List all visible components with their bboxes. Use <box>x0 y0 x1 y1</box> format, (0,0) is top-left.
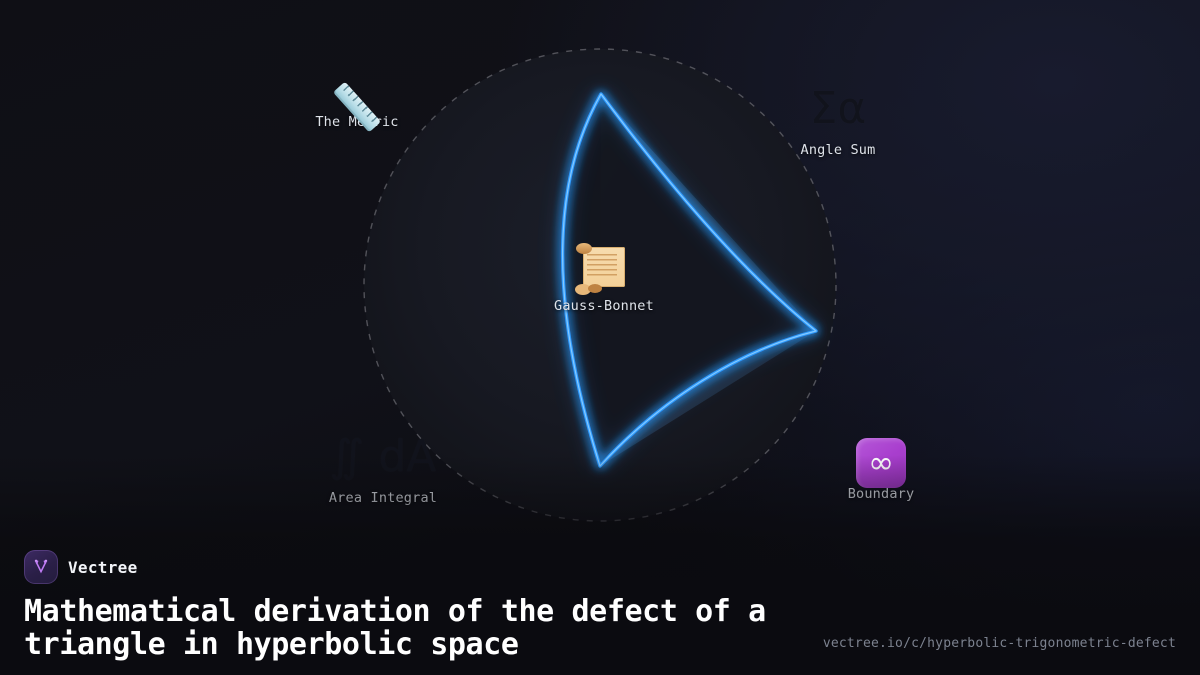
source-url: vectree.io/c/hyperbolic-trigonometric-de… <box>823 636 1176 651</box>
concept-label-boundary: Boundary <box>786 486 976 502</box>
double-integral-icon: ∬ dA <box>288 428 478 486</box>
scroll-icon <box>509 236 699 294</box>
concept-node-angle-sum[interactable]: Σα Angle Sum <box>743 80 933 158</box>
concept-label-area-integral: Area Integral <box>288 490 478 506</box>
footer: Vectree Mathematical derivation of the d… <box>0 550 1200 675</box>
slide-canvas: The Metric Σα Angle Sum Gauss-Bonnet ∬ d… <box>0 0 1200 675</box>
concept-node-the-metric[interactable]: The Metric <box>262 52 452 130</box>
infinity-icon: ∞ <box>786 424 976 482</box>
page-title: Mathematical derivation of the defect of… <box>24 596 794 661</box>
concept-node-gauss-bonnet[interactable]: Gauss-Bonnet <box>509 236 699 314</box>
ruler-icon <box>262 52 452 110</box>
concept-label-gauss-bonnet: Gauss-Bonnet <box>509 298 699 314</box>
concept-node-boundary[interactable]: ∞ Boundary <box>786 424 976 502</box>
vectree-logo-icon <box>24 550 58 584</box>
concept-label-angle-sum: Angle Sum <box>743 142 933 158</box>
sigma-alpha-icon: Σα <box>743 80 933 138</box>
concept-node-area-integral[interactable]: ∬ dA Area Integral <box>288 428 478 506</box>
brand-name: Vectree <box>68 558 138 577</box>
brand[interactable]: Vectree <box>24 550 1176 584</box>
